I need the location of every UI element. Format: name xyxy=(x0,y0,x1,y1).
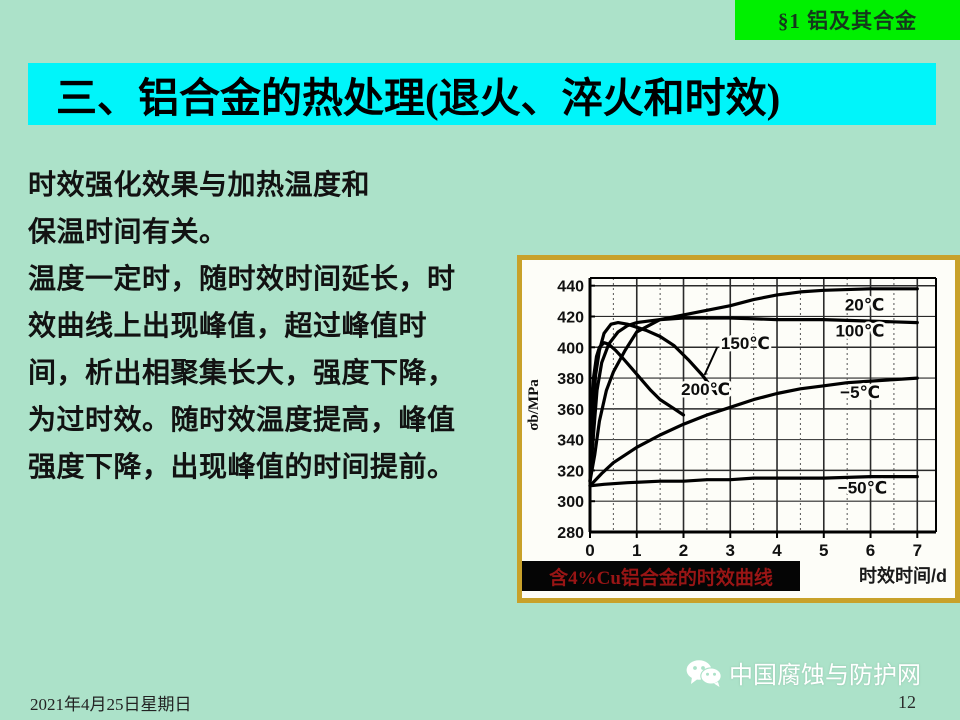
svg-text:300: 300 xyxy=(557,494,584,511)
svg-text:7: 7 xyxy=(913,541,922,560)
svg-text:5: 5 xyxy=(819,541,828,560)
svg-text:1: 1 xyxy=(632,541,641,560)
body-line: 效曲线上出现峰值，超过峰值时 xyxy=(28,303,548,350)
svg-text:6: 6 xyxy=(866,541,875,560)
body-line: 为过时效。随时效温度提高，峰值 xyxy=(28,397,548,444)
chart-plot-area: 28030032034036038040042044001234567σb/MP… xyxy=(522,260,955,598)
wechat-icon-svg xyxy=(686,659,722,687)
slide-title-band: 三、铝合金的热处理(退火、淬火和时效) xyxy=(28,63,936,125)
svg-text:150℃: 150℃ xyxy=(721,334,770,353)
svg-text:380: 380 xyxy=(557,371,584,388)
svg-text:20℃: 20℃ xyxy=(845,295,885,314)
section-header-band: §1 铝及其合金 xyxy=(735,0,960,40)
svg-text:280: 280 xyxy=(557,525,584,542)
svg-text:400: 400 xyxy=(557,340,584,357)
svg-text:200℃: 200℃ xyxy=(681,380,730,399)
page-title: 三、铝合金的热处理(退火、淬火和时效) xyxy=(28,64,780,124)
body-paragraph: 时效强化效果与加热温度和 保温时间有关。 温度一定时，随时效时间延长，时 效曲线… xyxy=(28,162,548,491)
svg-text:100℃: 100℃ xyxy=(835,321,884,340)
watermark: 中国腐蚀与防护网 xyxy=(686,655,921,690)
svg-text:σb/MPa: σb/MPa xyxy=(526,379,542,431)
svg-text:−50℃: −50℃ xyxy=(838,479,887,498)
svg-text:3: 3 xyxy=(726,541,735,560)
body-line: 温度一定时，随时效时间延长，时 xyxy=(28,256,548,303)
section-header-label: §1 铝及其合金 xyxy=(778,5,917,35)
svg-text:340: 340 xyxy=(557,433,584,450)
svg-text:420: 420 xyxy=(557,309,584,326)
body-line: 强度下降，出现峰值的时间提前。 xyxy=(28,444,548,491)
svg-text:2: 2 xyxy=(679,541,688,560)
footer-date: 2021年4月25日星期日 xyxy=(30,690,192,715)
chart-caption-bar: 含4%Cu铝合金的时效曲线 xyxy=(522,561,800,591)
svg-text:320: 320 xyxy=(557,463,584,480)
svg-text:4: 4 xyxy=(772,541,782,560)
svg-text:360: 360 xyxy=(557,402,584,419)
aging-curve-svg: 28030032034036038040042044001234567σb/MP… xyxy=(522,260,955,598)
chart-caption-label: 含4%Cu铝合金的时效曲线 xyxy=(549,563,773,590)
svg-text:0: 0 xyxy=(585,541,594,560)
svg-text:−5℃: −5℃ xyxy=(840,383,880,402)
page-number: 12 xyxy=(898,692,916,713)
aging-curve-chart-figure: 28030032034036038040042044001234567σb/MP… xyxy=(517,255,960,603)
chart-xaxis-title: 时效时间/d xyxy=(859,562,947,588)
wechat-icon xyxy=(686,659,722,687)
body-line: 间，析出相聚集长大，强度下降， xyxy=(28,350,548,397)
body-line: 保温时间有关。 xyxy=(28,209,548,256)
body-line: 时效强化效果与加热温度和 xyxy=(28,162,548,209)
svg-text:440: 440 xyxy=(557,279,584,296)
watermark-label: 中国腐蚀与防护网 xyxy=(729,655,921,690)
